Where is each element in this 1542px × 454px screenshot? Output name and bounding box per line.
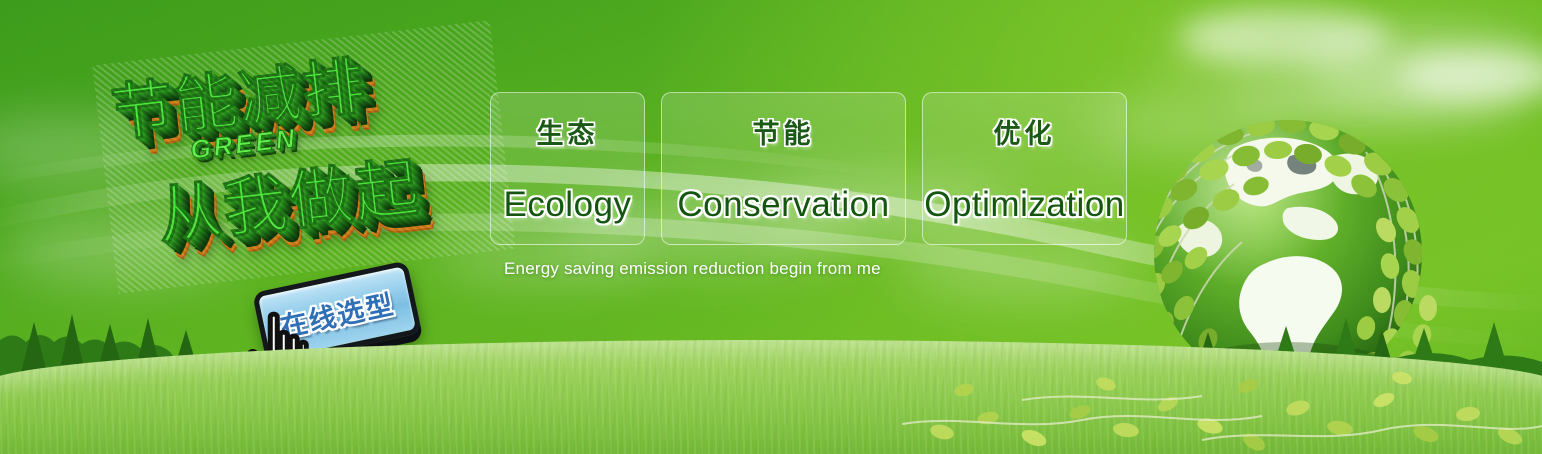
- feature-card-group: 生态 Ecology 节能 Conservation 优化 Optimizati…: [490, 92, 1127, 245]
- cloud-shape: [900, 240, 1140, 296]
- feature-card-en-label: Ecology: [503, 185, 631, 225]
- cloud-shape: [1398, 52, 1542, 98]
- feature-card-en-label: Optimization: [924, 185, 1125, 225]
- feature-card-cn-label: 生态: [537, 112, 599, 151]
- feature-card-ecology[interactable]: 生态 Ecology: [490, 92, 645, 245]
- banner-root: 节能减排 GREEN 从我做起 在线选型 生态 Ecology 节能 Conse…: [0, 0, 1542, 454]
- cloud-shape: [1300, 28, 1542, 98]
- feature-card-en-label: Conservation: [677, 185, 889, 225]
- grass-texture: [0, 340, 1542, 454]
- feature-card-cn-label: 优化: [994, 112, 1056, 151]
- cloud-shape: [1180, 8, 1390, 66]
- feature-card-optimization[interactable]: 优化 Optimization: [922, 92, 1127, 245]
- feature-card-conservation[interactable]: 节能 Conservation: [661, 92, 906, 245]
- banner-tagline: Energy saving emission reduction begin f…: [504, 259, 881, 279]
- headline-3d-text: 节能减排 GREEN 从我做起: [92, 20, 515, 294]
- cloud-shape: [1160, 34, 1280, 74]
- grass-field: [0, 340, 1542, 454]
- feature-card-cn-label: 节能: [753, 112, 815, 151]
